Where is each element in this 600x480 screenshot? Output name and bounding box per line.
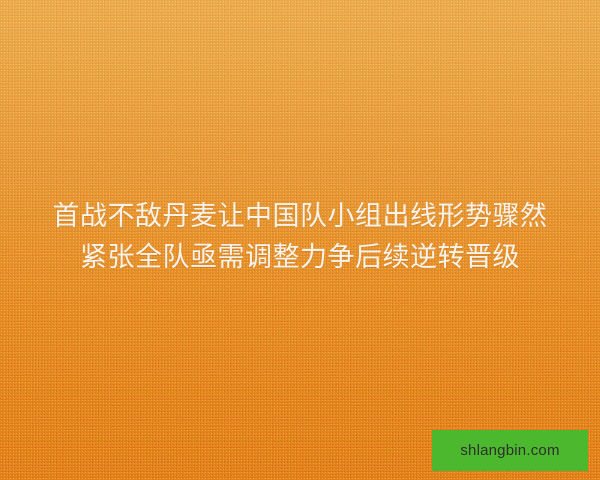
poster-card: 首战不敌丹麦让中国队小组出线形势骤然 紧张全队亟需调整力争后续逆转晋级 shla… <box>0 0 600 480</box>
watermark-badge[interactable]: shlangbin.com <box>432 430 588 471</box>
headline-line-2: 紧张全队亟需调整力争后续逆转晋级 <box>0 237 600 278</box>
headline-line-1: 首战不敌丹麦让中国队小组出线形势骤然 <box>0 196 600 237</box>
watermark-label: shlangbin.com <box>460 442 559 459</box>
headline-text: 首战不敌丹麦让中国队小组出线形势骤然 紧张全队亟需调整力争后续逆转晋级 <box>0 196 600 278</box>
